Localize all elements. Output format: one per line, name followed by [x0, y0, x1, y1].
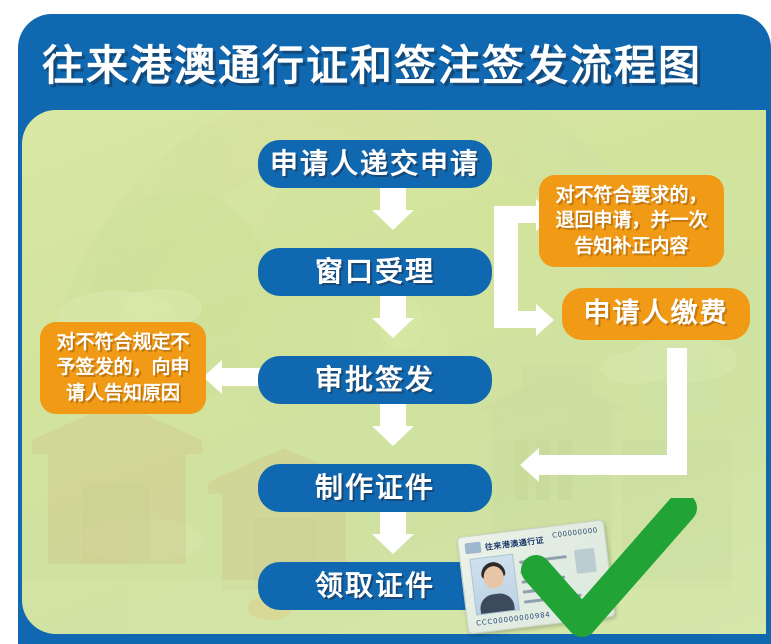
arrow-step1-step2: [380, 188, 406, 210]
flow-note-payment[interactable]: 申请人缴费: [562, 288, 750, 340]
branch-stem-vertical: [494, 206, 518, 328]
flow-step-label: 申请人递交申请: [270, 147, 480, 181]
flow-step-制作证件[interactable]: 制作证件: [258, 464, 492, 512]
flowchart-poster: 往来港澳通行证和签注签发流程图: [0, 0, 771, 644]
poster-header: 往来港澳通行证和签注签发流程图: [18, 14, 771, 110]
arrow-step2-step3: [380, 296, 406, 318]
flow-step-审批签发[interactable]: 审批签发: [258, 356, 492, 404]
flow-step-label: 领取证件: [315, 569, 435, 603]
payment-return-vertical: [667, 348, 687, 472]
flow-step-领取证件[interactable]: 领取证件: [258, 562, 492, 610]
flow-step-label: 窗口受理: [315, 255, 435, 289]
flow-step-label: 制作证件: [315, 471, 435, 505]
flow-step-窗口受理[interactable]: 窗口受理: [258, 248, 492, 296]
flow-note-reject-requirements[interactable]: 对不符合要求的，退回申请，并一次告知补正内容: [539, 175, 724, 267]
flow-note-refuse-issue[interactable]: 对不符合规定不予签发的，向申请人告知原因: [40, 322, 206, 414]
flow-note-label: 对不符合规定不予签发的，向申请人告知原因: [50, 330, 196, 407]
flow-note-label: 对不符合要求的，退回申请，并一次告知补正内容: [549, 183, 714, 260]
green-check-icon: [520, 498, 700, 644]
flow-step-label: 审批签发: [315, 363, 435, 397]
arrow-step4-step5: [380, 512, 406, 534]
arrow-step3-step4: [380, 404, 406, 426]
flow-step-申请人递交申请[interactable]: 申请人递交申请: [258, 140, 492, 188]
card-emblem-icon: [464, 542, 481, 555]
card-portrait-photo: [469, 554, 520, 616]
arrow-step2-branch-down: [494, 311, 536, 328]
flow-note-label: 申请人缴费: [584, 298, 729, 331]
arrow-payment-to-step4: [539, 455, 687, 475]
page-title: 往来港澳通行证和签注签发流程图: [42, 32, 702, 93]
arrow-step2-branch-up: [494, 206, 536, 223]
